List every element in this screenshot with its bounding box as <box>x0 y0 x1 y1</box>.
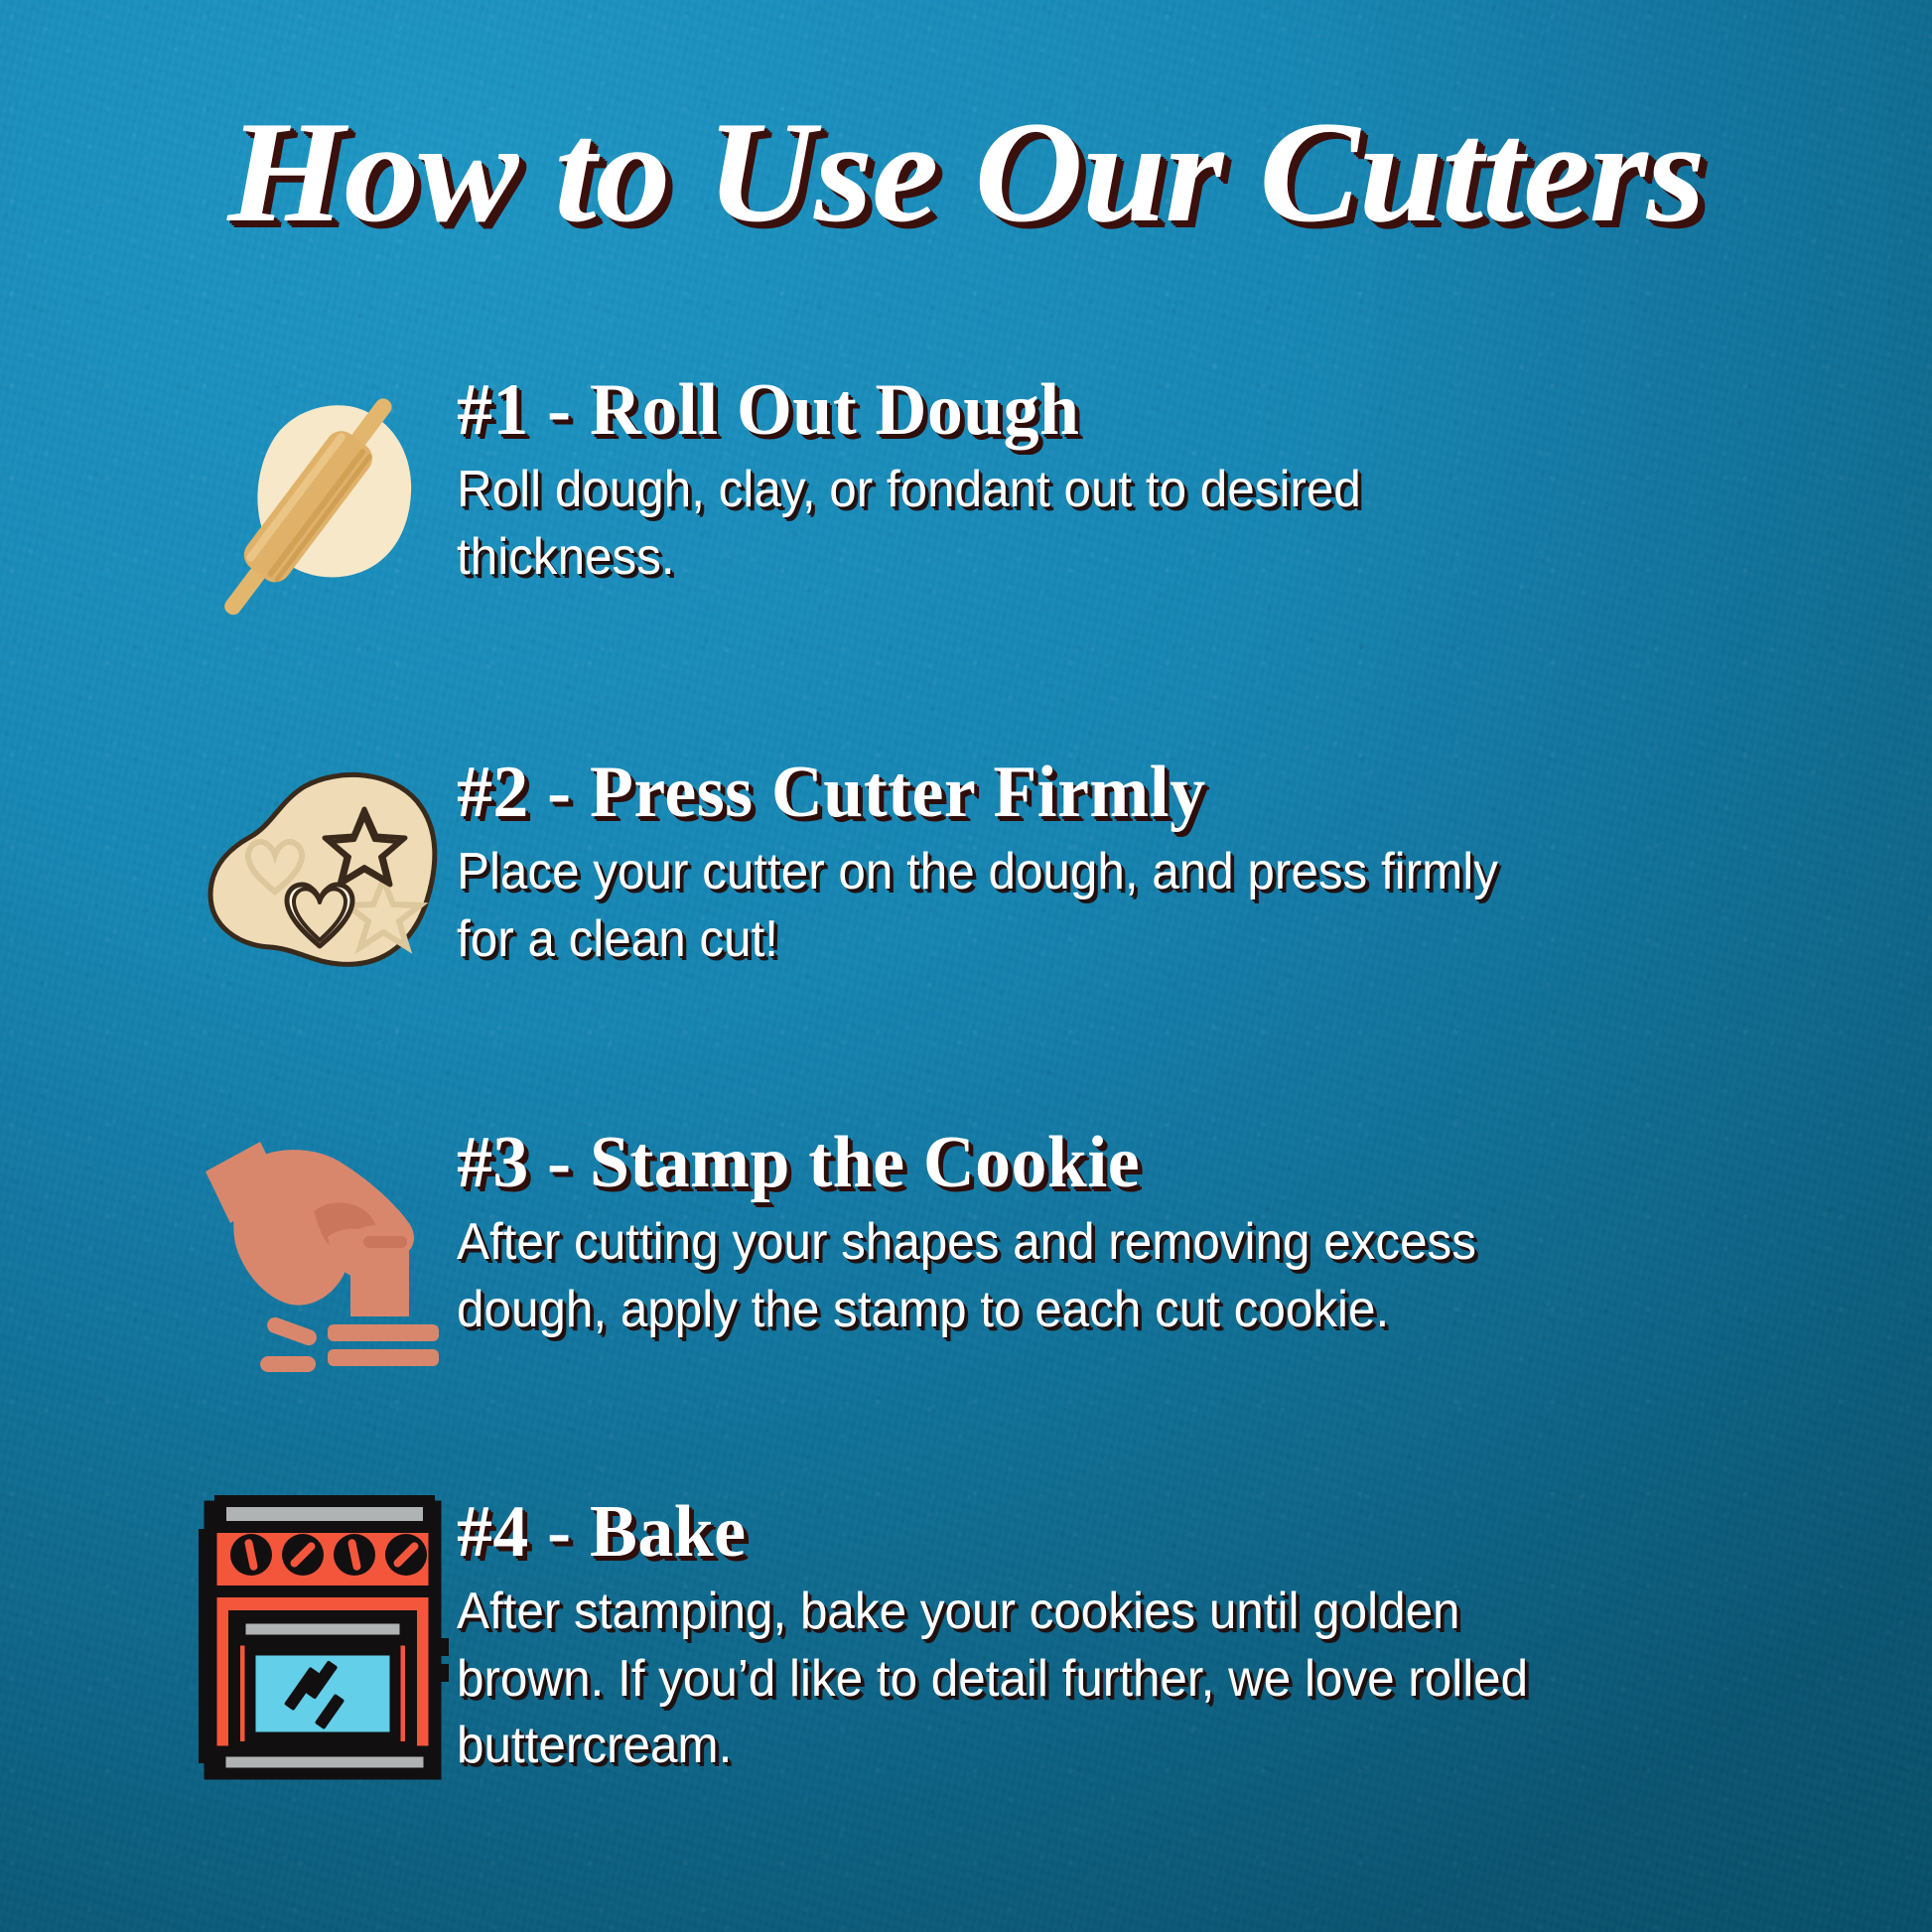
dough-with-cutters-icon <box>189 750 457 1018</box>
step-heading-4: #4 - Bake <box>457 1495 1776 1569</box>
step-row-4: #4 - Bake After stamping, bake your cook… <box>189 1489 1817 1780</box>
step-row-2: #2 - Press Cutter Firmly Place your cutt… <box>189 750 1817 1018</box>
step-heading-1: #1 - Roll Out Dough <box>457 373 1776 447</box>
page-title: How to Use Our Cutters <box>0 95 1932 249</box>
step-text-1: #1 - Roll Out Dough Roll dough, clay, or… <box>457 367 1817 591</box>
infographic-poster: How to Use Our Cutters <box>0 0 1932 1932</box>
step-row-1: #1 - Roll Out Dough Roll dough, clay, or… <box>189 367 1817 635</box>
step-body-2: Place your cutter on the dough, and pres… <box>457 839 1542 973</box>
step-text-4: #4 - Bake After stamping, bake your cook… <box>457 1489 1817 1780</box>
hand-stamping-icon <box>189 1120 457 1388</box>
step-body-4: After stamping, bake your cookies until … <box>457 1579 1542 1780</box>
rolling-pin-dough-icon <box>189 367 457 635</box>
step-row-3: #3 - Stamp the Cookie After cutting your… <box>189 1120 1817 1388</box>
step-heading-3: #3 - Stamp the Cookie <box>457 1126 1776 1199</box>
step-body-3: After cutting your shapes and removing e… <box>457 1209 1542 1343</box>
step-heading-2: #2 - Press Cutter Firmly <box>457 756 1776 829</box>
step-body-1: Roll dough, clay, or fondant out to desi… <box>457 457 1542 591</box>
step-text-2: #2 - Press Cutter Firmly Place your cutt… <box>457 750 1817 973</box>
oven-icon <box>189 1489 457 1757</box>
step-text-3: #3 - Stamp the Cookie After cutting your… <box>457 1120 1817 1343</box>
